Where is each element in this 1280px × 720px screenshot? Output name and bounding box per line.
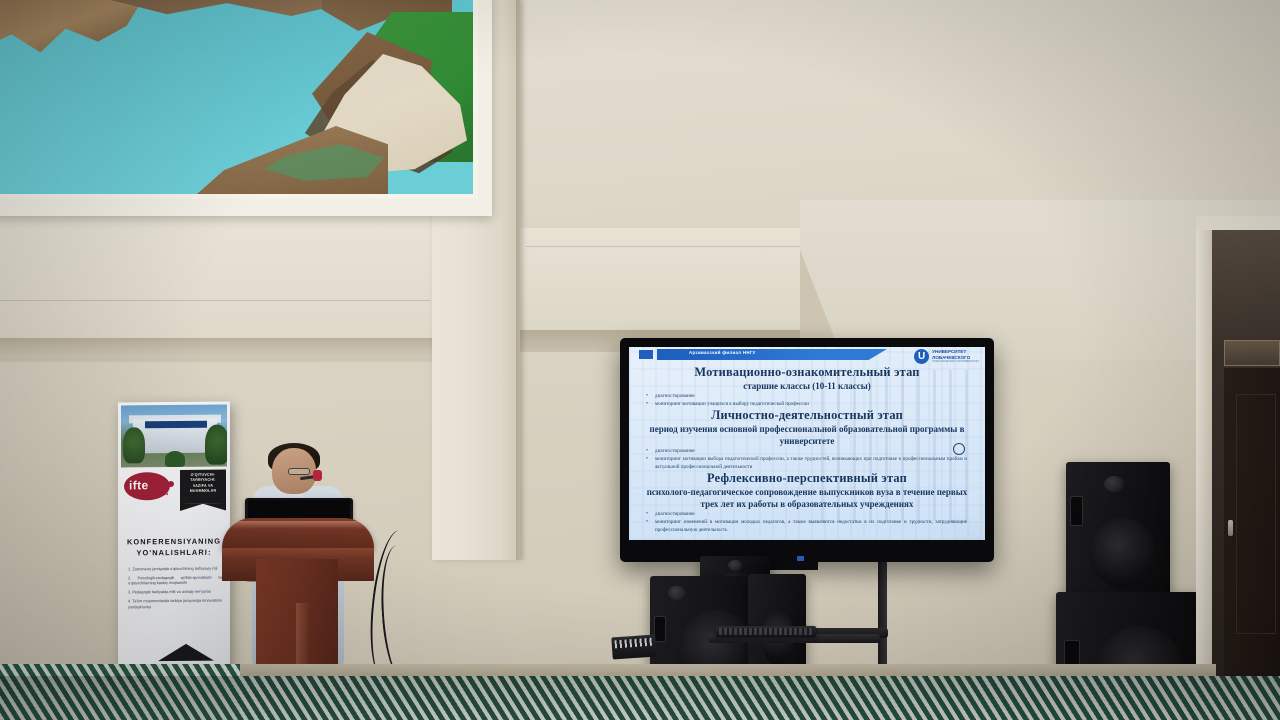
stage-2-subheading: период изучения основной профессионально… (641, 423, 973, 447)
audio-mixer-controls[interactable] (614, 638, 652, 649)
podium-band (222, 548, 374, 559)
podium-top-highlight (230, 521, 366, 529)
stage-3-heading: Рефлексивно-перспективный этап (641, 471, 973, 486)
banner-heading-line-1: KONFERENSIYANING (126, 536, 222, 548)
university-name-line-3: НИЖЕГОРОДСКИЙ ГОСУНИВЕРСИТЕТ (932, 360, 979, 363)
stage-3-bullet: диагностирование (641, 510, 973, 518)
door-lintel (1196, 216, 1280, 230)
door-jamb (1196, 216, 1212, 720)
computer-keyboard[interactable] (716, 626, 816, 637)
slide-header-label: Арзамасский филиал ННГУ (689, 350, 756, 355)
speaker-right-top-woofer (1090, 518, 1156, 588)
speaker-right-top-tweeter (1104, 476, 1124, 492)
mural-inner-border (0, 0, 478, 199)
ifte-logo-year: 2025 (157, 491, 168, 497)
slide-header-square (639, 350, 653, 359)
screen-glare-ring-icon (953, 443, 965, 455)
banner-tagline-line-4: MUAMMOLAR (182, 489, 224, 495)
speaker-left-top-tweeter (728, 560, 742, 571)
banner-tagline-block: O'QITUVCHI- TARBIYACHI: VAZIFA VA MUAMMO… (180, 470, 226, 504)
podium-top (222, 518, 374, 550)
ifte-logo-text: ifte (129, 478, 149, 492)
banner-direction-item: 2. Psixologik-pedagogik qo'llab-quvvatla… (128, 574, 222, 586)
door-panel (1236, 394, 1276, 634)
stage-3-subheading: психолого-педагогическое сопровождение в… (641, 486, 973, 510)
audio-mixer[interactable] (611, 634, 656, 659)
ifte-logo: ifte 2025 (124, 472, 176, 502)
wall-upper-left (0, 205, 432, 350)
tv-power-indicator (797, 556, 804, 561)
door-transom-window (1224, 340, 1280, 366)
slide-content: Мотивационно-ознакомительный этап старши… (629, 365, 985, 534)
presenter-glasses (288, 468, 310, 475)
banner-direction-item: 3. Pedagogik faoliyatda etik va axloqiy … (128, 589, 222, 595)
pillar-shadow (516, 0, 526, 560)
mural-painting (0, 0, 478, 199)
speaker-left-bottom-handle (654, 616, 666, 642)
banner-photo-tree-right (205, 425, 227, 465)
banner-photo-tree-left (123, 427, 145, 463)
slide-header: Арзамасский филиал ННГУ U УНИВЕРСИТЕТ ЛО… (629, 347, 985, 362)
university-logo: U УНИВЕРСИТЕТ ЛОБАЧЕВСКОГО НИЖЕГОРОДСКИЙ… (914, 349, 979, 364)
wall-ledge-left-shadow (0, 352, 432, 362)
stage-1-heading: Мотивационно-ознакомительный этап (641, 365, 973, 380)
banner-direction-item: 1. Zamonaviy jamiyatda o'qituvchining ta… (128, 566, 222, 572)
stage-2-heading: Личностно-деятельностный этап (641, 408, 973, 423)
podium-side-left (222, 559, 258, 581)
conference-hall-photo: ifte 2025 O'QITUVCHI- TARBIYACHI: VAZIFA… (0, 0, 1280, 720)
keyboard-keys[interactable] (719, 628, 813, 635)
university-logo-text: УНИВЕРСИТЕТ ЛОБАЧЕВСКОГО НИЖЕГОРОДСКИЙ Г… (932, 349, 979, 363)
door-handle-icon[interactable] (1228, 520, 1233, 536)
banner-chevron-shape (158, 644, 214, 661)
banner-chevron-decoration (158, 644, 214, 662)
banner-photo-signboard (145, 421, 207, 429)
speaker-right-top (1066, 462, 1170, 596)
ceiling-beam-corner (800, 250, 836, 342)
banner-venue-photo (121, 405, 227, 468)
stage-2-bullet: диагностирование (641, 447, 973, 455)
ifte-logo-dot (168, 481, 174, 487)
speaker-left-bottom-tweeter (668, 586, 686, 600)
stage-1-subheading: старшие классы (10-11 классы) (641, 380, 973, 392)
banner-direction-item: 4. Ta'lim muammolarida tarbiya jarayonig… (128, 598, 222, 610)
wall-crack-beam (526, 246, 800, 247)
speaker-right-top-handle (1070, 496, 1083, 526)
university-logo-mark: U (914, 349, 929, 364)
microphone-icon (313, 470, 322, 481)
stage-2-bullet: мониторинг мотивации выбора педагогическ… (641, 455, 973, 471)
presentation-slide: Арзамасский филиал ННГУ U УНИВЕРСИТЕТ ЛО… (629, 347, 985, 540)
floor-shading (0, 676, 1280, 720)
stage-1-bullet: мониторинг мотивации учащихся к выбору п… (641, 400, 973, 408)
podium-side-right (338, 559, 374, 581)
wooden-door[interactable] (1224, 368, 1280, 720)
banner-heading: KONFERENSIYANING YO'NALISHLARI: (126, 536, 222, 559)
presentation-display[interactable]: Арзамасский филиал ННГУ U УНИВЕРСИТЕТ ЛО… (620, 338, 994, 562)
mural-frame (0, 0, 492, 216)
banner-directions-list: 1. Zamonaviy jamiyatda o'qituvchining ta… (128, 566, 222, 613)
stage-3-bullet: мониторинг изменений в мотивации молодых… (641, 518, 973, 534)
wall-crack-left (0, 300, 430, 301)
stage-1-bullet: диагностирование (641, 392, 973, 400)
banner-photo-bush (165, 451, 185, 467)
banner-heading-line-2: YO'NALISHLARI: (126, 547, 222, 559)
